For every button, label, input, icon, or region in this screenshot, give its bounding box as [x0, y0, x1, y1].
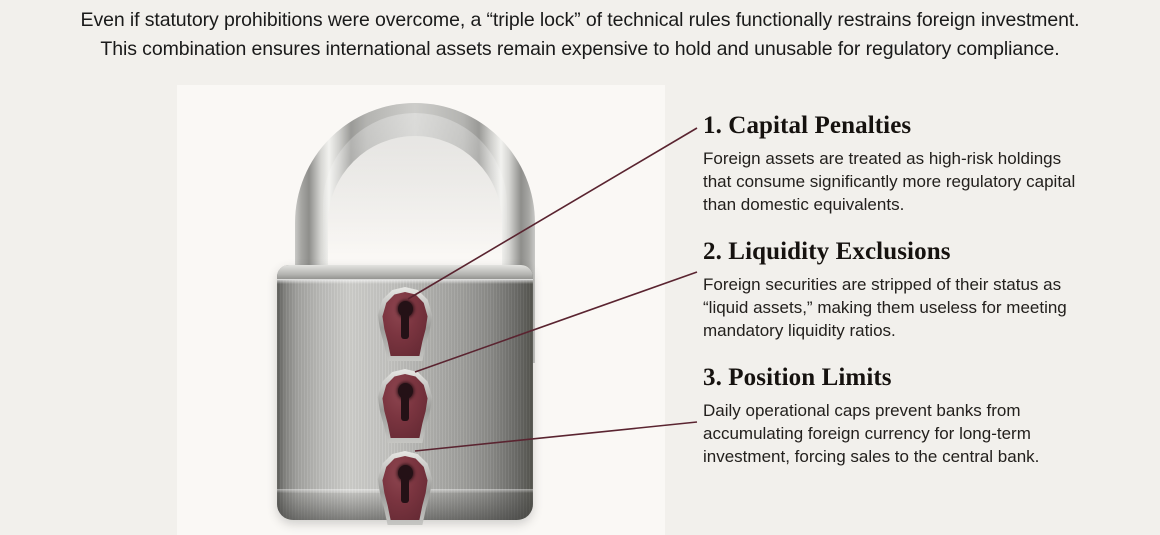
padlock-body-top-highlight: [277, 279, 533, 284]
item-body-line: Foreign securities are stripped of their…: [703, 273, 1153, 296]
explanation-list: 1. Capital Penalties Foreign assets are …: [703, 112, 1153, 490]
item-body-line: than domestic equivalents.: [703, 193, 1153, 216]
item-body-1: Foreign assets are treated as high-risk …: [703, 147, 1153, 216]
keyhole-icon-3: [376, 451, 434, 525]
item-title-2: 2. Liquidity Exclusions: [703, 238, 1153, 266]
item-body-line: mandatory liquidity ratios.: [703, 319, 1153, 342]
item-body-line: that consume significantly more regulato…: [703, 170, 1153, 193]
item-body-line: investment, forcing sales to the central…: [703, 445, 1153, 468]
keyhole-slot: [401, 476, 409, 503]
item-body-3: Daily operational caps prevent banks fro…: [703, 399, 1153, 468]
list-item: 1. Capital Penalties Foreign assets are …: [703, 112, 1153, 216]
item-title-1: 1. Capital Penalties: [703, 112, 1153, 140]
item-body-line: Daily operational caps prevent banks fro…: [703, 399, 1153, 422]
keyhole-slot: [401, 394, 409, 421]
padlock-illustration: [177, 85, 665, 535]
item-body-line: “liquid assets,” making them useless for…: [703, 296, 1153, 319]
keyhole-icon-1: [376, 287, 434, 361]
padlock-body-top-rim: [277, 265, 533, 280]
caption-line-1: Even if statutory prohibitions were over…: [0, 6, 1160, 35]
keyhole-icon-2: [376, 369, 434, 443]
item-body-line: accumulating foreign currency for long-t…: [703, 422, 1153, 445]
item-body-line: Foreign assets are treated as high-risk …: [703, 147, 1153, 170]
intro-caption: Even if statutory prohibitions were over…: [0, 6, 1160, 64]
caption-line-2: This combination ensures international a…: [0, 35, 1160, 64]
keyhole-slot: [401, 312, 409, 339]
list-item: 2. Liquidity Exclusions Foreign securiti…: [703, 238, 1153, 342]
list-item: 3. Position Limits Daily operational cap…: [703, 364, 1153, 468]
item-title-3: 3. Position Limits: [703, 364, 1153, 392]
item-body-2: Foreign securities are stripped of their…: [703, 273, 1153, 342]
